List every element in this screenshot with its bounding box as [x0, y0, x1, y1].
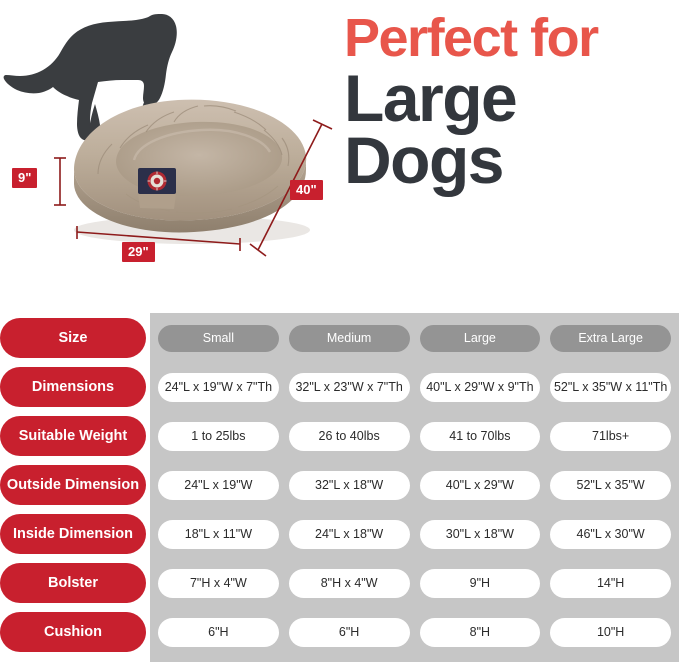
table-cell: 32"L x 23"W x 7"Th	[289, 373, 410, 402]
row-cells: 24"L x 19"W32"L x 18"W40"L x 29"W52"L x …	[150, 465, 679, 505]
table-cell: 9"H	[420, 569, 541, 598]
row-label-pill: Suitable Weight	[0, 416, 146, 456]
table-row: Cushion6"H6"H8"H10"H	[0, 612, 679, 652]
table-cell: 14"H	[550, 569, 671, 598]
row-cells: 1 to 25lbs26 to 40lbs41 to 70lbs71lbs+	[150, 416, 679, 456]
table-cell: 10"H	[550, 618, 671, 647]
column-header-pill: Medium	[289, 325, 410, 352]
row-label-pill: Inside Dimension	[0, 514, 146, 554]
table-row: Outside Dimension24"L x 19"W32"L x 18"W4…	[0, 465, 679, 505]
table-cell: 18"L x 11"W	[158, 520, 279, 549]
row-label-pill: Size	[0, 318, 146, 358]
table-cell: 7"H x 4"W	[158, 569, 279, 598]
headline-line-2: Large	[344, 68, 679, 129]
table-row: SizeSmallMediumLargeExtra Large	[0, 318, 679, 358]
height-callout-badge: 9"	[12, 168, 37, 188]
table-cell: 52"L x 35"W x 11"Th	[550, 373, 671, 402]
table-cell: 40"L x 29"W x 9"Th	[420, 373, 541, 402]
row-cells: 7"H x 4"W8"H x 4"W9"H14"H	[150, 563, 679, 603]
table-cell: 40"L x 29"W	[420, 471, 541, 500]
table-row: Bolster7"H x 4"W8"H x 4"W9"H14"H	[0, 563, 679, 603]
table-cell: 6"H	[289, 618, 410, 647]
diagonal-callout-badge: 40"	[290, 180, 323, 200]
headline-line-3: Dogs	[344, 130, 679, 191]
page-title: Perfect for Large Dogs	[344, 14, 679, 191]
table-row: Suitable Weight1 to 25lbs26 to 40lbs41 t…	[0, 416, 679, 456]
table-cell: 32"L x 18"W	[289, 471, 410, 500]
table-cell: 8"H	[420, 618, 541, 647]
table-cell: 1 to 25lbs	[158, 422, 279, 451]
table-cell: 46"L x 30"W	[550, 520, 671, 549]
table-rows-container: SizeSmallMediumLargeExtra LargeDimension…	[0, 313, 679, 662]
table-cell: 6"H	[158, 618, 279, 647]
table-row: Inside Dimension18"L x 11"W24"L x 18"W30…	[0, 514, 679, 554]
row-label-pill: Bolster	[0, 563, 146, 603]
row-cells: 6"H6"H8"H10"H	[150, 612, 679, 652]
table-cell: 52"L x 35"W	[550, 471, 671, 500]
size-spec-table: SizeSmallMediumLargeExtra LargeDimension…	[0, 313, 679, 662]
column-header-pill: Large	[420, 325, 541, 352]
table-cell: 8"H x 4"W	[289, 569, 410, 598]
table-cell: 24"L x 19"W	[158, 471, 279, 500]
table-cell: 71lbs+	[550, 422, 671, 451]
headline-line-1: Perfect for	[344, 14, 679, 64]
table-row: Dimensions24"L x 19"W x 7"Th32"L x 23"W …	[0, 367, 679, 407]
row-label-pill: Cushion	[0, 612, 146, 652]
hero-section: 9" 29" 40" Perfect for Large Dogs	[0, 0, 679, 300]
bolster-dog-bed-photo	[56, 78, 324, 250]
width-callout-badge: 29"	[122, 242, 155, 262]
table-cell: 24"L x 18"W	[289, 520, 410, 549]
column-header-pill: Small	[158, 325, 279, 352]
row-cells: 18"L x 11"W24"L x 18"W30"L x 18"W46"L x …	[150, 514, 679, 554]
logo-patch	[138, 168, 176, 194]
table-cell: 41 to 70lbs	[420, 422, 541, 451]
column-header-pill: Extra Large	[550, 325, 671, 352]
row-label-pill: Outside Dimension	[0, 465, 146, 505]
table-cell: 26 to 40lbs	[289, 422, 410, 451]
row-cells: SmallMediumLargeExtra Large	[150, 318, 679, 358]
table-cell: 30"L x 18"W	[420, 520, 541, 549]
table-cell: 24"L x 19"W x 7"Th	[158, 373, 279, 402]
row-label-pill: Dimensions	[0, 367, 146, 407]
row-cells: 24"L x 19"W x 7"Th32"L x 23"W x 7"Th40"L…	[150, 367, 679, 407]
